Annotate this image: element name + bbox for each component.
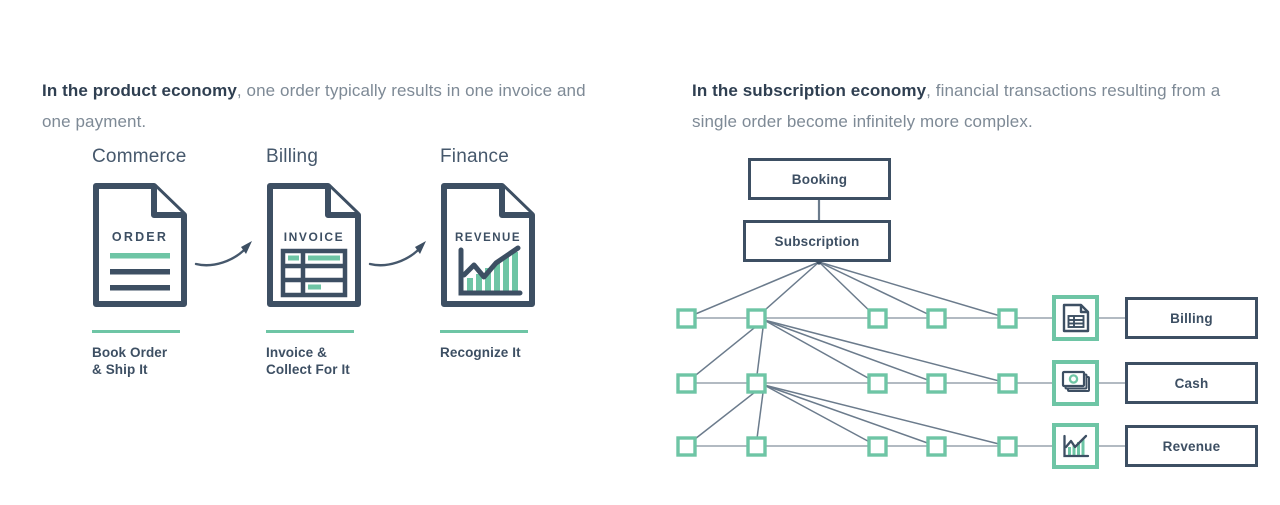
network-node xyxy=(999,375,1016,392)
subscription-economy-intro: In the subscription economy, financial t… xyxy=(692,75,1267,137)
subscription-economy-intro-lead: In the subscription economy xyxy=(692,81,926,100)
network-node xyxy=(678,375,695,392)
order-document-label: ORDER xyxy=(112,230,168,244)
network-node xyxy=(748,310,765,327)
flow-step-finance-title: Finance xyxy=(440,146,615,168)
flow-step-commerce-caption: Book Order & Ship It xyxy=(92,344,267,378)
output-box-revenue[interactable]: Revenue xyxy=(1125,425,1258,467)
output-box-billing[interactable]: Billing xyxy=(1125,297,1258,339)
flow-step-finance-rule xyxy=(440,330,528,333)
invoice-document-label: INVOICE xyxy=(284,230,345,244)
fanout-subscription-to-row1 xyxy=(686,262,1007,318)
output-box-cash[interactable]: Cash xyxy=(1125,362,1258,404)
tile-to-box-connectors xyxy=(1099,318,1125,446)
network-node xyxy=(999,310,1016,327)
bar-chart-icon xyxy=(1052,423,1099,469)
network-node xyxy=(869,438,886,455)
flow-step-finance-caption: Recognize It xyxy=(440,344,615,361)
network-node xyxy=(869,375,886,392)
output-box-cash-label: Cash xyxy=(1175,376,1209,391)
invoice-document-icon: INVOICE xyxy=(266,182,362,308)
subscription-network-diagram: Booking Subscription xyxy=(660,140,1280,480)
subscription-box-label: Subscription xyxy=(775,234,860,249)
subscription-economy-panel: In the subscription economy, financial t… xyxy=(660,0,1280,505)
document-table-icon xyxy=(1052,295,1099,341)
order-document-icon: ORDER xyxy=(92,182,188,308)
flow-step-commerce-title: Commerce xyxy=(92,146,267,168)
network-node xyxy=(928,310,945,327)
network-node xyxy=(678,438,695,455)
fanout-row2-to-row3 xyxy=(686,385,1007,446)
product-economy-panel: In the product economy, one order typica… xyxy=(0,0,660,505)
output-box-billing-label: Billing xyxy=(1170,311,1213,326)
subscription-box[interactable]: Subscription xyxy=(743,220,891,262)
arrow-billing-to-finance xyxy=(368,234,434,276)
product-economy-flow: Commerce ORDER Book Order & Ship It xyxy=(42,146,602,386)
money-stack-icon xyxy=(1052,360,1099,406)
arrow-commerce-to-billing xyxy=(194,234,260,276)
output-box-revenue-label: Revenue xyxy=(1163,439,1221,454)
flow-step-finance: Finance REVENUE xyxy=(440,146,615,361)
revenue-document-label: REVENUE xyxy=(455,232,521,244)
network-node xyxy=(678,310,695,327)
booking-box-label: Booking xyxy=(792,172,847,187)
network-node xyxy=(928,375,945,392)
flow-step-billing-title: Billing xyxy=(266,146,441,168)
revenue-document-icon: REVENUE xyxy=(440,182,536,308)
flow-step-billing-rule xyxy=(266,330,354,333)
flow-step-billing-caption: Invoice & Collect For It xyxy=(266,344,441,378)
network-node xyxy=(999,438,1016,455)
network-node xyxy=(928,438,945,455)
product-economy-intro-lead: In the product economy xyxy=(42,81,237,100)
fanout-row1-to-row2 xyxy=(686,320,1007,383)
network-node xyxy=(748,375,765,392)
network-node xyxy=(869,310,886,327)
booking-box[interactable]: Booking xyxy=(748,158,891,200)
flow-step-commerce-rule xyxy=(92,330,180,333)
product-economy-intro: In the product economy, one order typica… xyxy=(42,75,617,137)
network-node xyxy=(748,438,765,455)
